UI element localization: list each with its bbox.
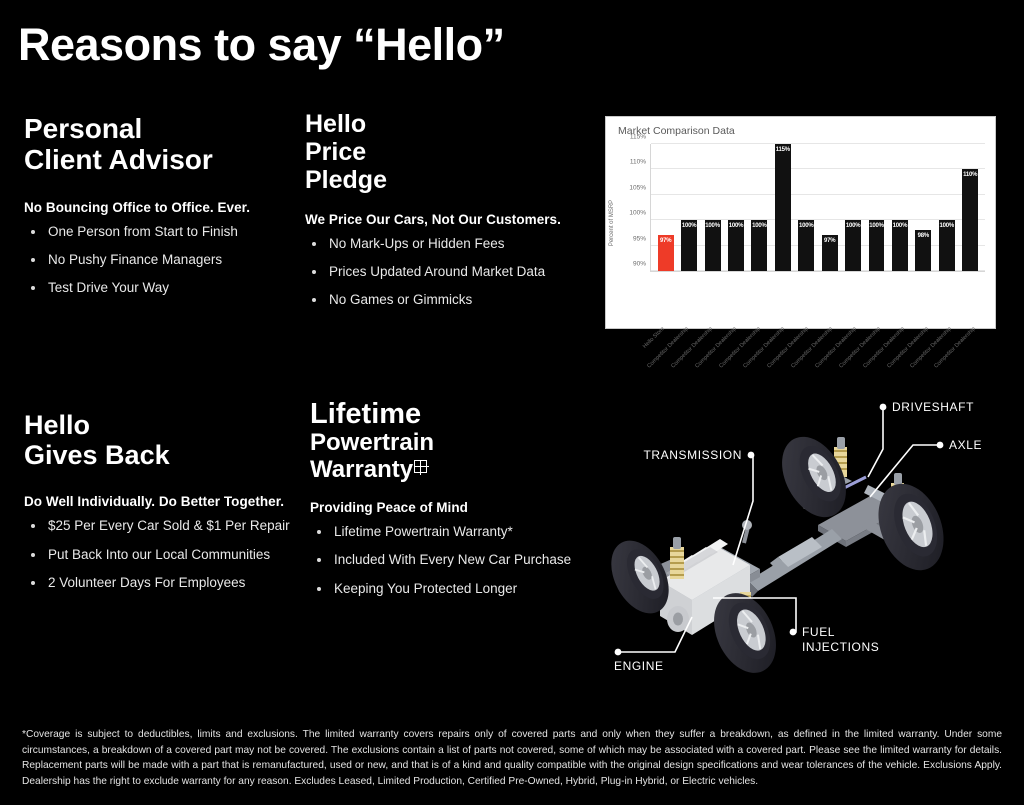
list-item: Test Drive Your Way [24, 280, 294, 296]
callout-label-injections: INJECTIONS [802, 640, 879, 654]
block-subheading: We Price Our Cars, Not Our Customers. [305, 212, 585, 227]
chart-bar: 97% [822, 235, 838, 271]
bullet-icon [31, 581, 35, 585]
list-item-label: Included With Every New Car Purchase [334, 552, 571, 567]
y-axis-tick-label: 90% [633, 261, 646, 268]
feature-block-hello-price-pledge: Hello Price Pledge We Price Our Cars, No… [305, 110, 585, 321]
chart-bar-slot: 115% [771, 144, 794, 271]
page-title: Reasons to say “Hello” [18, 22, 505, 67]
block-heading: Lifetime Powertrain Warranty [310, 398, 595, 484]
transmission-callout-dot [748, 452, 755, 459]
slide-root: Reasons to say “Hello” Personal Client A… [0, 0, 1024, 805]
chart-bar: 110% [962, 169, 978, 271]
callout-label-driveshaft: DRIVESHAFT [892, 400, 974, 414]
block-heading: Hello Gives Back [24, 410, 304, 470]
bullet-icon [31, 230, 35, 234]
feature-block-personal-client-advisor: Personal Client Advisor No Bouncing Offi… [24, 113, 294, 308]
chart-bar-value-label: 100% [798, 223, 814, 229]
chart-bar-slot: 100% [701, 144, 724, 271]
heading-line-1: Hello [24, 410, 304, 440]
chart-bar-highlight: 97% [658, 235, 674, 271]
chart-bar-slot: 97% [818, 144, 841, 271]
wheels [600, 426, 956, 683]
heading-line-3-text: Warranty [310, 456, 413, 483]
x-axis-tick-label: Competitor Dealership [647, 326, 691, 370]
y-axis-tick-label: 110% [630, 159, 646, 166]
block-subheading: No Bouncing Office to Office. Ever. [24, 200, 294, 215]
chart-bar-value-label: 110% [962, 172, 978, 178]
bullet-icon [31, 524, 35, 528]
list-item: No Games or Gimmicks [305, 292, 585, 308]
list-item: Keeping You Protected Longer [310, 581, 595, 597]
block-bullet-list: One Person from Start to Finish No Pushy… [24, 224, 294, 297]
list-item-label: Lifetime Powertrain Warranty* [334, 524, 513, 539]
heading-line-2: Powertrain [310, 430, 595, 457]
chart-bar-value-label: 100% [728, 223, 744, 229]
list-item: 2 Volunteer Days For Employees [24, 575, 304, 591]
callout-label-fuel: FUEL [802, 625, 835, 639]
list-item-label: Prices Updated Around Market Data [329, 264, 545, 279]
chart-bar-value-label: 100% [845, 223, 861, 229]
list-item-label: No Mark-Ups or Hidden Fees [329, 236, 505, 251]
chart-bar: 100% [798, 220, 814, 271]
heading-line-1: Personal [24, 113, 294, 144]
chart-bar-value-label: 100% [869, 223, 885, 229]
y-axis-tick-label: 100% [629, 210, 646, 217]
axle-callout-dot [937, 442, 944, 449]
chart-bar-slot: 100% [795, 144, 818, 271]
callout-label-transmission: TRANSMISSION [643, 448, 742, 462]
chart-bar-slot: 100% [935, 144, 958, 271]
list-item-label: Put Back Into our Local Communities [48, 547, 270, 562]
chart-bar-value-label: 98% [915, 233, 931, 239]
chart-bar-slot: 97% [654, 144, 677, 271]
chart-bar-slot: 100% [677, 144, 700, 271]
chart-plot-area: 90%95%100%105%110%115% 97%100%100%100%10… [650, 144, 985, 272]
list-item-label: Keeping You Protected Longer [334, 581, 517, 596]
list-item-label: No Pushy Finance Managers [48, 252, 222, 267]
bullet-icon [312, 298, 316, 302]
list-item: Put Back Into our Local Communities [24, 547, 304, 563]
block-bullet-list: Lifetime Powertrain Warranty* Included W… [310, 524, 595, 597]
chart-bar-value-label: 97% [658, 238, 674, 244]
chart-bar-slot: 100% [748, 144, 771, 271]
feature-block-lifetime-powertrain-warranty: Lifetime Powertrain Warranty Providing P… [310, 398, 595, 609]
x-axis-tick-label: Competitor Dealership [790, 326, 834, 370]
block-subheading: Do Well Individually. Do Better Together… [24, 494, 304, 509]
chart-bar: 100% [728, 220, 744, 271]
chart-bar: 100% [681, 220, 697, 271]
heading-line-1: Lifetime [310, 398, 595, 430]
x-axis-tick-label: Hello Store [642, 326, 666, 350]
chart-bar: 100% [892, 220, 908, 271]
block-bullet-list: No Mark-Ups or Hidden Fees Prices Update… [305, 236, 585, 309]
list-item: No Mark-Ups or Hidden Fees [305, 236, 585, 252]
bullet-icon [31, 286, 35, 290]
heading-line-2: Gives Back [24, 440, 304, 470]
chart-bar-value-label: 100% [939, 223, 955, 229]
block-subheading: Providing Peace of Mind [310, 500, 595, 515]
chart-bars: 97%100%100%100%100%115%100%97%100%100%10… [651, 144, 985, 271]
list-item: $25 Per Every Car Sold & $1 Per Repair [24, 518, 304, 534]
x-axis-tick-label: Competitor Dealership [718, 326, 762, 370]
chart-bar-value-label: 100% [751, 223, 767, 229]
chart-bar: 100% [939, 220, 955, 271]
list-item: Lifetime Powertrain Warranty* [310, 524, 595, 540]
chart-bar-value-label: 115% [775, 147, 791, 153]
y-axis-tick-label: 95% [633, 235, 646, 242]
callout-label-axle: AXLE [949, 438, 982, 452]
chart-bar: 115% [775, 144, 791, 271]
heading-line-1: Hello [305, 110, 585, 138]
list-item: Prices Updated Around Market Data [305, 264, 585, 280]
heading-line-2: Client Advisor [24, 144, 294, 175]
chart-bar-value-label: 100% [681, 223, 697, 229]
bullet-icon [31, 553, 35, 557]
x-axis-tick-label: Competitor Dealership [814, 326, 858, 370]
heading-line-3: Warranty [310, 457, 595, 484]
y-axis-tick-label: 115% [630, 134, 646, 141]
chart-bar: 98% [915, 230, 931, 271]
block-bullet-list: $25 Per Every Car Sold & $1 Per Repair P… [24, 518, 304, 591]
y-axis-tick-label: 105% [629, 184, 646, 191]
chart-x-axis-labels: Hello StoreCompetitor DealershipCompetit… [650, 268, 985, 324]
x-axis-tick-label: Competitor Dealership [694, 326, 738, 370]
bullet-icon [312, 242, 316, 246]
heading-line-3: Pledge [305, 166, 585, 194]
chart-y-axis-label: Percent of MSRP [609, 199, 615, 245]
list-item: One Person from Start to Finish [24, 224, 294, 240]
x-axis-tick-label: Competitor Dealership [886, 326, 930, 370]
x-axis-tick-label: Competitor Dealership [742, 326, 786, 370]
list-item-label: No Games or Gimmicks [329, 292, 472, 307]
list-item-label: One Person from Start to Finish [48, 224, 238, 239]
car-chassis-diagram: DRIVESHAFT AXLE TRANSMISSION FUEL INJECT… [600, 385, 1024, 685]
block-heading: Personal Client Advisor [24, 113, 294, 176]
list-item: No Pushy Finance Managers [24, 252, 294, 268]
x-axis-tick-label: Competitor Dealership [862, 326, 906, 370]
list-item: Included With Every New Car Purchase [310, 552, 595, 568]
x-axis-tick-label: Competitor Dealership [838, 326, 882, 370]
chart-bar-slot: 100% [865, 144, 888, 271]
chart-bar-value-label: 100% [705, 223, 721, 229]
bullet-icon [31, 258, 35, 262]
bullet-icon [317, 587, 321, 591]
chart-bar: 100% [845, 220, 861, 271]
chart-bar-slot: 100% [724, 144, 747, 271]
chart-bar-value-label: 97% [822, 238, 838, 244]
list-item-label: Test Drive Your Way [48, 280, 169, 295]
chart-bar-value-label: 100% [892, 223, 908, 229]
chart-bar-slot: 110% [958, 144, 981, 271]
chart-bar: 100% [869, 220, 885, 271]
chart-plot-wrapper: 90%95%100%105%110%115% 97%100%100%100%10… [650, 144, 985, 272]
bullet-icon [312, 270, 316, 274]
fuel-injections-callout-dot [790, 629, 797, 636]
chart-bar-slot: 100% [888, 144, 911, 271]
bullet-icon [317, 558, 321, 562]
chassis-illustration: DRIVESHAFT AXLE TRANSMISSION FUEL INJECT… [600, 385, 1024, 685]
list-item-label: 2 Volunteer Days For Employees [48, 575, 245, 590]
list-item-label: $25 Per Every Car Sold & $1 Per Repair [48, 518, 290, 533]
chart-bar: 100% [751, 220, 767, 271]
driveshaft-callout-dot [880, 404, 887, 411]
chart-bar-slot: 100% [841, 144, 864, 271]
callout-label-engine: ENGINE [614, 659, 664, 673]
chart-bar-slot: 98% [912, 144, 935, 271]
chart-bar: 100% [705, 220, 721, 271]
missing-character-box-icon [414, 460, 427, 473]
x-axis-tick-label: Competitor Dealership [910, 326, 954, 370]
feature-block-hello-gives-back: Hello Gives Back Do Well Individually. D… [24, 410, 304, 603]
market-comparison-chart-card: Market Comparison Data Percent of MSRP 9… [605, 116, 996, 329]
block-heading: Hello Price Pledge [305, 110, 585, 194]
x-axis-tick-label: Competitor Dealership [670, 326, 714, 370]
legal-disclaimer: *Coverage is subject to deductibles, lim… [22, 727, 1002, 789]
heading-line-2: Price [305, 138, 585, 166]
bullet-icon [317, 530, 321, 534]
engine-callout-dot [615, 649, 622, 656]
x-axis-tick-label: Competitor Dealership [766, 326, 810, 370]
